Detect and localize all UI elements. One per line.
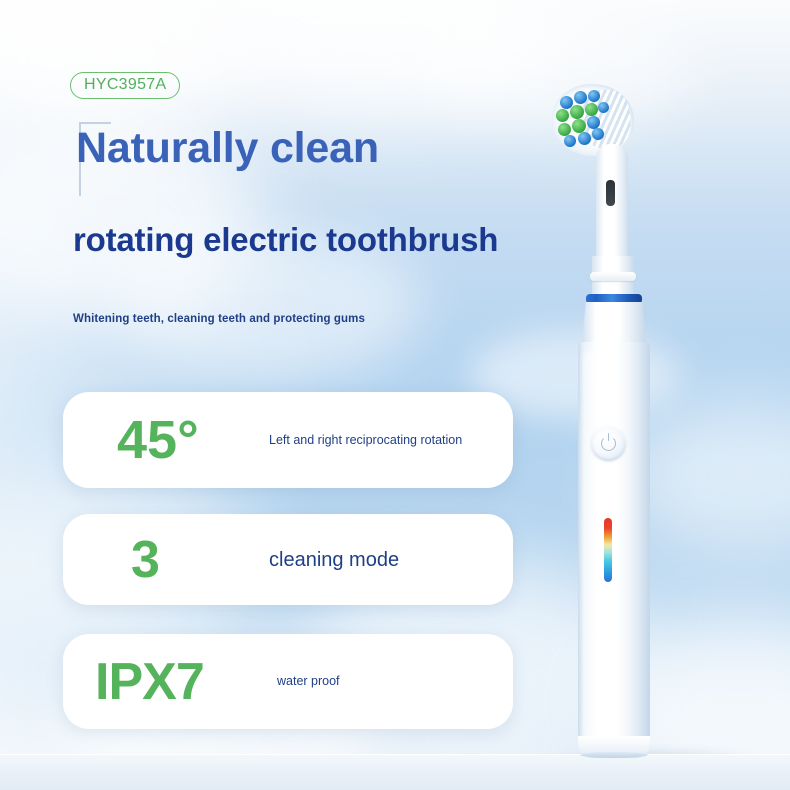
feature-card: IPX7 water proof <box>63 634 513 729</box>
bristle-tuft-green <box>570 105 584 119</box>
bristle-tuft-green <box>572 119 586 133</box>
feature-card: 3 cleaning mode <box>63 514 513 605</box>
feature-label: Left and right reciprocating rotation <box>269 433 462 448</box>
page-subtitle: rotating electric toothbrush <box>73 222 498 259</box>
bristle-tuft-blue <box>598 102 609 113</box>
handle-shoulder <box>582 302 646 344</box>
page-title: Naturally clean <box>76 124 379 172</box>
feature-value: 3 <box>131 534 257 586</box>
model-badge: HYC3957A <box>70 72 180 99</box>
bristle-tuft-blue <box>574 91 587 104</box>
bristle-tuft-blue <box>578 132 591 145</box>
bristle-tuft-green <box>585 103 598 116</box>
brush-collar-ring <box>590 272 636 281</box>
feature-value: IPX7 <box>95 656 265 708</box>
bristle-tuft-blue <box>564 135 576 147</box>
brush-neck-slot <box>606 180 615 206</box>
feature-value: 45° <box>117 413 257 467</box>
power-button[interactable] <box>591 426 626 461</box>
bristle-tuft-blue <box>588 90 600 102</box>
tagline-text: Whitening teeth, cleaning teeth and prot… <box>73 313 365 325</box>
handle-highlight <box>584 350 598 740</box>
product-promo-page: HYC3957A Naturally clean rotating electr… <box>0 0 790 790</box>
feature-label: water proof <box>277 674 340 689</box>
feature-label: cleaning mode <box>269 548 399 572</box>
feature-card: 45° Left and right reciprocating rotatio… <box>63 392 513 488</box>
bristle-tuft-blue <box>592 128 604 140</box>
handle-base-edge <box>580 752 648 758</box>
bristle-tuft-green <box>556 109 569 122</box>
electric-toothbrush-product-image <box>520 60 720 760</box>
power-icon <box>601 436 616 451</box>
mode-led-indicator-strip <box>604 518 612 582</box>
